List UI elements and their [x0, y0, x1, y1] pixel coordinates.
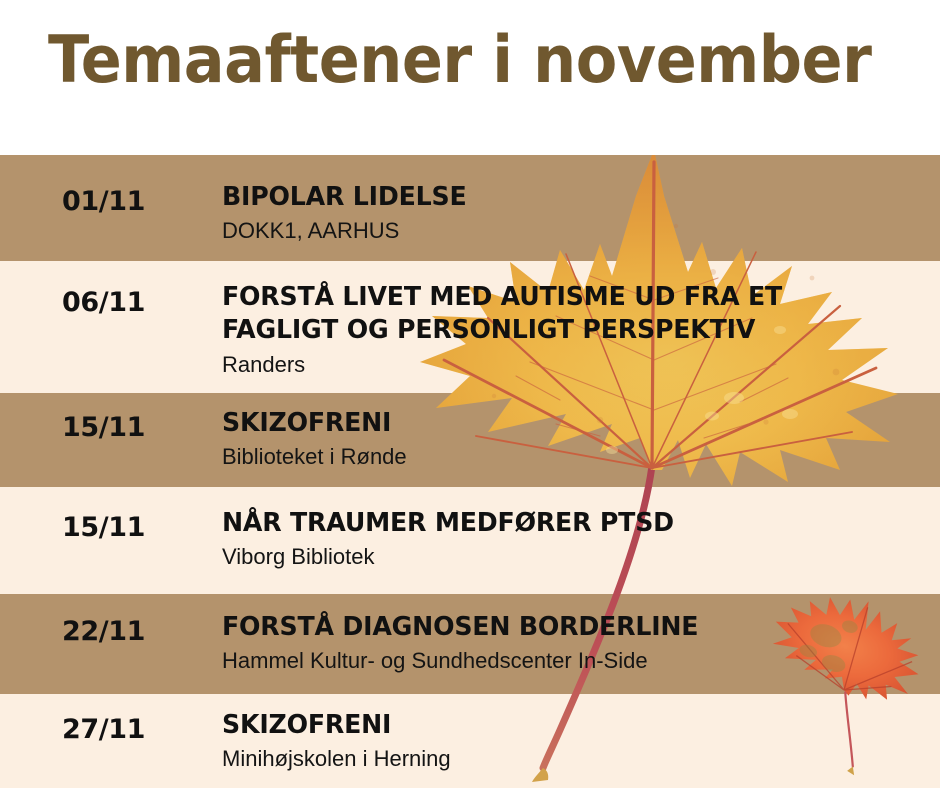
event-title: FORSTÅ DIAGNOSEN BORDERLINE [222, 611, 698, 644]
event-text-block: NÅR TRAUMER MEDFØRER PTSDViborg Bibliote… [222, 507, 688, 571]
header-band: Temaaftener i november [0, 0, 940, 155]
event-text-block: SKIZOFRENIBiblioteket i Rønde [222, 407, 407, 471]
event-text-block: BIPOLAR LIDELSEDOKK1, AARHUS [222, 181, 474, 245]
event-title: FORSTÅ LIVET MED AUTISME UD FRA ET FAGLI… [222, 281, 782, 348]
event-date: 15/11 [62, 512, 145, 543]
event-date: 06/11 [62, 287, 145, 318]
event-text-block: FORSTÅ LIVET MED AUTISME UD FRA ET FAGLI… [222, 281, 799, 378]
event-location: Viborg Bibliotek [222, 543, 688, 571]
event-location: Biblioteket i Rønde [222, 443, 407, 471]
event-date: 15/11 [62, 412, 145, 443]
event-location: DOKK1, AARHUS [222, 217, 474, 245]
page-title: Temaaftener i november [48, 28, 871, 93]
poster-canvas: Temaaftener i november 01/11BIPOLAR LIDE… [0, 0, 940, 788]
event-location: Randers [222, 351, 799, 379]
event-date: 27/11 [62, 714, 145, 745]
event-date: 01/11 [62, 186, 145, 217]
event-text-block: FORSTÅ DIAGNOSEN BORDERLINEHammel Kultur… [222, 611, 713, 675]
event-title: NÅR TRAUMER MEDFØRER PTSD [222, 507, 674, 540]
event-location: Minihøjskolen i Herning [222, 745, 451, 773]
event-text-block: SKIZOFRENIMinihøjskolen i Herning [222, 709, 451, 773]
event-location: Hammel Kultur- og Sundhedscenter In-Side [222, 647, 713, 675]
event-title: BIPOLAR LIDELSE [222, 181, 467, 214]
event-date: 22/11 [62, 616, 145, 647]
event-title: SKIZOFRENI [222, 407, 401, 440]
event-title: SKIZOFRENI [222, 709, 444, 742]
